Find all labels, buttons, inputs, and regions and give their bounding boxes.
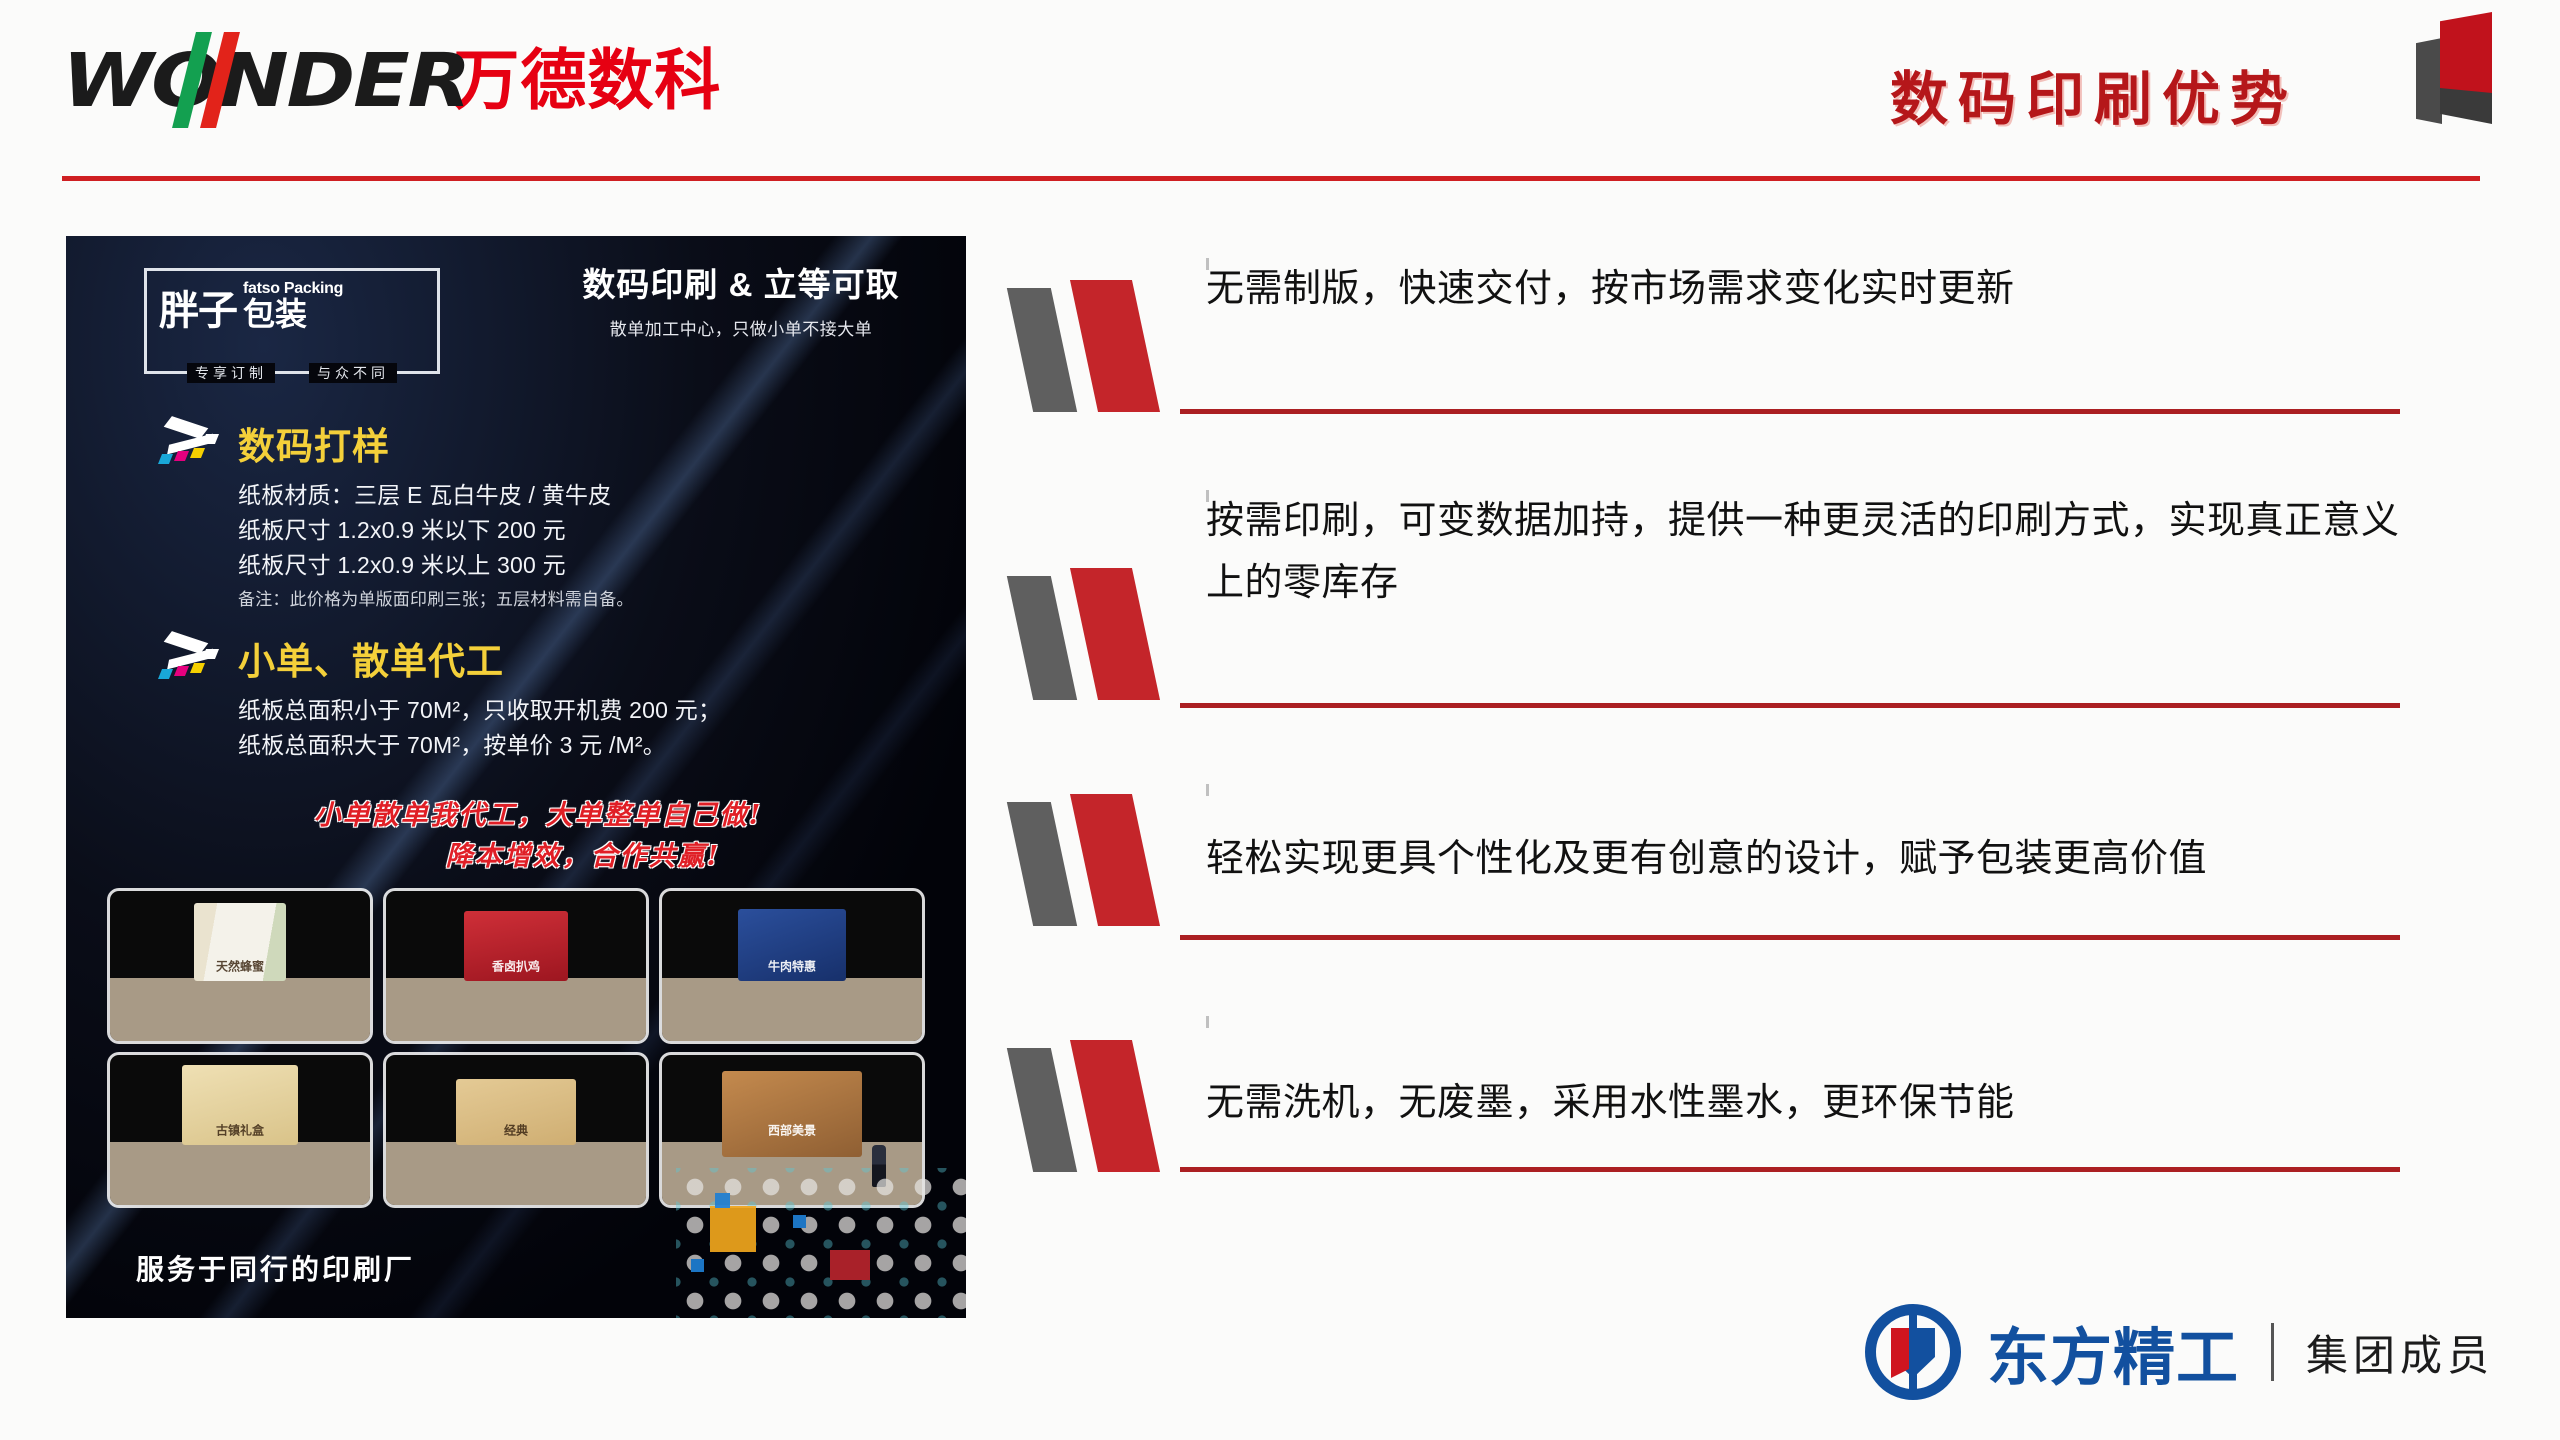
fatso-tagline-right: 与众不同 <box>309 363 397 383</box>
advantages-list: 无需制版，快速交付，按市场需求变化实时更新 按需印刷，可变数据加持，提供一种更灵… <box>1010 258 2460 1248</box>
poster-section-small-orders: 小单、散单代工 纸板总面积小于 70M²，只收取开机费 200 元； 纸板总面积… <box>158 631 918 763</box>
product-photo: 经典 <box>386 1055 646 1205</box>
advantage-underline <box>1180 935 2400 940</box>
bullet-marker-icon <box>1010 1040 1180 1172</box>
advantage-text: 轻松实现更具个性化及更有创意的设计，赋予包装更高价值 <box>1206 784 2421 910</box>
bullet-tick-mark <box>1206 258 1209 270</box>
poster-footer-text: 服务于同行的印刷厂 <box>136 1248 415 1288</box>
cmyk-magenta-dot-icon <box>174 451 189 461</box>
footer-membership-label: 集团成员 <box>2306 1322 2494 1383</box>
bullet-marker-icon <box>1010 794 1180 926</box>
advantage-text: 按需印刷，可变数据加持，提供一种更灵活的印刷方式，实现真正意义上的零库存 <box>1206 490 2421 633</box>
advantage-text: 无需制版，快速交付，按市场需求变化实时更新 <box>1206 258 2421 340</box>
group-member-logo: 东方精工 集团成员 <box>1865 1304 2494 1400</box>
poster-section-note: 备注：此价格为单版面印刷三张；五层材料需自备。 <box>238 587 918 613</box>
footer-company-name: 东方精工 <box>1987 1307 2239 1397</box>
product-photo-caption: 经典 <box>504 1122 528 1139</box>
product-photo: 天然蜂蜜 <box>110 891 370 1041</box>
poster-slogan-line-1: 小单散单我代工，大单整单自己做! <box>158 796 918 837</box>
poster-section-line: 纸板尺寸 1.2x0.9 米以上 300 元 <box>238 548 918 583</box>
product-photo: 牛肉特惠 <box>662 891 922 1041</box>
corner-mark-gray-panel <box>2416 38 2442 124</box>
bullet-tick-mark <box>1206 490 1209 502</box>
advantage-text: 无需洗机，无废墨，采用水性墨水，更环保节能 <box>1206 1016 2421 1154</box>
corner-book-mark-icon <box>2410 12 2498 124</box>
bullet-tick-mark <box>1206 784 1209 796</box>
product-photo-caption: 西部美景 <box>768 1122 816 1139</box>
cmyk-cyan-dot-icon <box>158 454 173 464</box>
product-photo-caption: 牛肉特惠 <box>768 958 816 975</box>
dongfang-emblem-icon <box>1865 1304 1961 1400</box>
halftone-amber-square <box>710 1206 756 1252</box>
footer-divider <box>2271 1323 2274 1381</box>
halftone-blue-square <box>715 1193 730 1208</box>
chevron-arrow-icon <box>158 635 222 681</box>
bullet-marker-icon <box>1010 568 1180 700</box>
product-photo-caption: 香卤扒鸡 <box>492 958 540 975</box>
cmyk-magenta-dot-icon <box>174 666 189 676</box>
product-photo: 古镇礼盒 <box>110 1055 370 1205</box>
advantage-item: 无需制版，快速交付，按市场需求变化实时更新 <box>1010 258 2460 428</box>
halftone-dot-pattern <box>676 1168 966 1318</box>
poster-section-line: 纸板材质：三层 E 瓦白牛皮 / 黄牛皮 <box>238 478 918 513</box>
product-photo-caption: 天然蜂蜜 <box>216 958 264 975</box>
brand-wordmark-chinese: 万德数科 <box>453 48 721 114</box>
fatso-logo-main-text: 胖子 <box>159 292 237 330</box>
product-photo-caption: 古镇礼盒 <box>216 1122 264 1139</box>
cmyk-yellow-dot-icon <box>190 448 205 458</box>
advantage-underline <box>1180 1167 2400 1172</box>
corner-mark-dark-panel <box>2440 88 2492 124</box>
poster-image: 胖子 fatso Packing 包装 专享订制 与众不同 数码印刷 & 立等可… <box>66 236 966 1318</box>
product-photo-grid: 天然蜂蜜 香卤扒鸡 牛肉特惠 古镇礼盒 经典 西部美景 <box>110 891 922 1205</box>
poster-section-proofing: 数码打样 纸板材质：三层 E 瓦白牛皮 / 黄牛皮 纸板尺寸 1.2x0.9 米… <box>158 416 918 613</box>
fatso-tagline-left: 专享订制 <box>187 363 275 383</box>
fatso-logo-sub-text: 包装 <box>243 296 307 332</box>
poster-headline-block: 数码印刷 & 立等可取 散单加工中心，只做小单不接大单 <box>536 264 946 340</box>
bullet-marker-icon <box>1010 280 1180 412</box>
poster-section-line: 纸板总面积小于 70M²，只收取开机费 200 元； <box>238 693 918 728</box>
advantage-item: 按需印刷，可变数据加持，提供一种更灵活的印刷方式，实现真正意义上的零库存 <box>1010 490 2460 722</box>
page-title: 数码印刷优势 <box>1890 52 2298 136</box>
cmyk-cyan-dot-icon <box>158 669 173 679</box>
poster-headline: 数码印刷 & 立等可取 <box>536 264 946 307</box>
poster-subheadline: 散单加工中心，只做小单不接大单 <box>536 315 946 340</box>
product-photo: 香卤扒鸡 <box>386 891 646 1041</box>
advantage-item: 轻松实现更具个性化及更有创意的设计，赋予包装更高价值 <box>1010 784 2460 954</box>
poster-section-line: 纸板尺寸 1.2x0.9 米以下 200 元 <box>238 513 918 548</box>
advantage-underline <box>1180 409 2400 414</box>
poster-section-line: 纸板总面积大于 70M²，按单价 3 元 /M²。 <box>238 728 918 763</box>
header-divider <box>62 176 2480 181</box>
fatso-packing-logo: 胖子 fatso Packing 包装 专享订制 与众不同 <box>144 268 440 374</box>
halftone-blue-square <box>793 1215 806 1228</box>
poster-slogan-line-2: 降本增效，合作共赢! <box>158 837 918 878</box>
slide-root: WONDER 万德数科 数码印刷优势 胖子 fatso Packing 包装 专… <box>0 0 2560 1440</box>
halftone-red-square <box>830 1250 870 1280</box>
halftone-blue-square <box>691 1259 704 1272</box>
chevron-arrow-icon <box>158 420 222 466</box>
brand-wordmark-latin: WONDER <box>62 44 469 118</box>
bullet-tick-mark <box>1206 1016 1209 1028</box>
brand-logo: WONDER 万德数科 <box>62 38 721 124</box>
poster-section-title: 小单、散单代工 <box>238 631 504 685</box>
advantage-item: 无需洗机，无废墨，采用水性墨水，更环保节能 <box>1010 1016 2460 1186</box>
advantage-underline <box>1180 703 2400 708</box>
poster-section-title: 数码打样 <box>238 416 390 470</box>
poster-slogan: 小单散单我代工，大单整单自己做! 降本增效，合作共赢! <box>158 796 918 877</box>
cmyk-yellow-dot-icon <box>190 663 205 673</box>
